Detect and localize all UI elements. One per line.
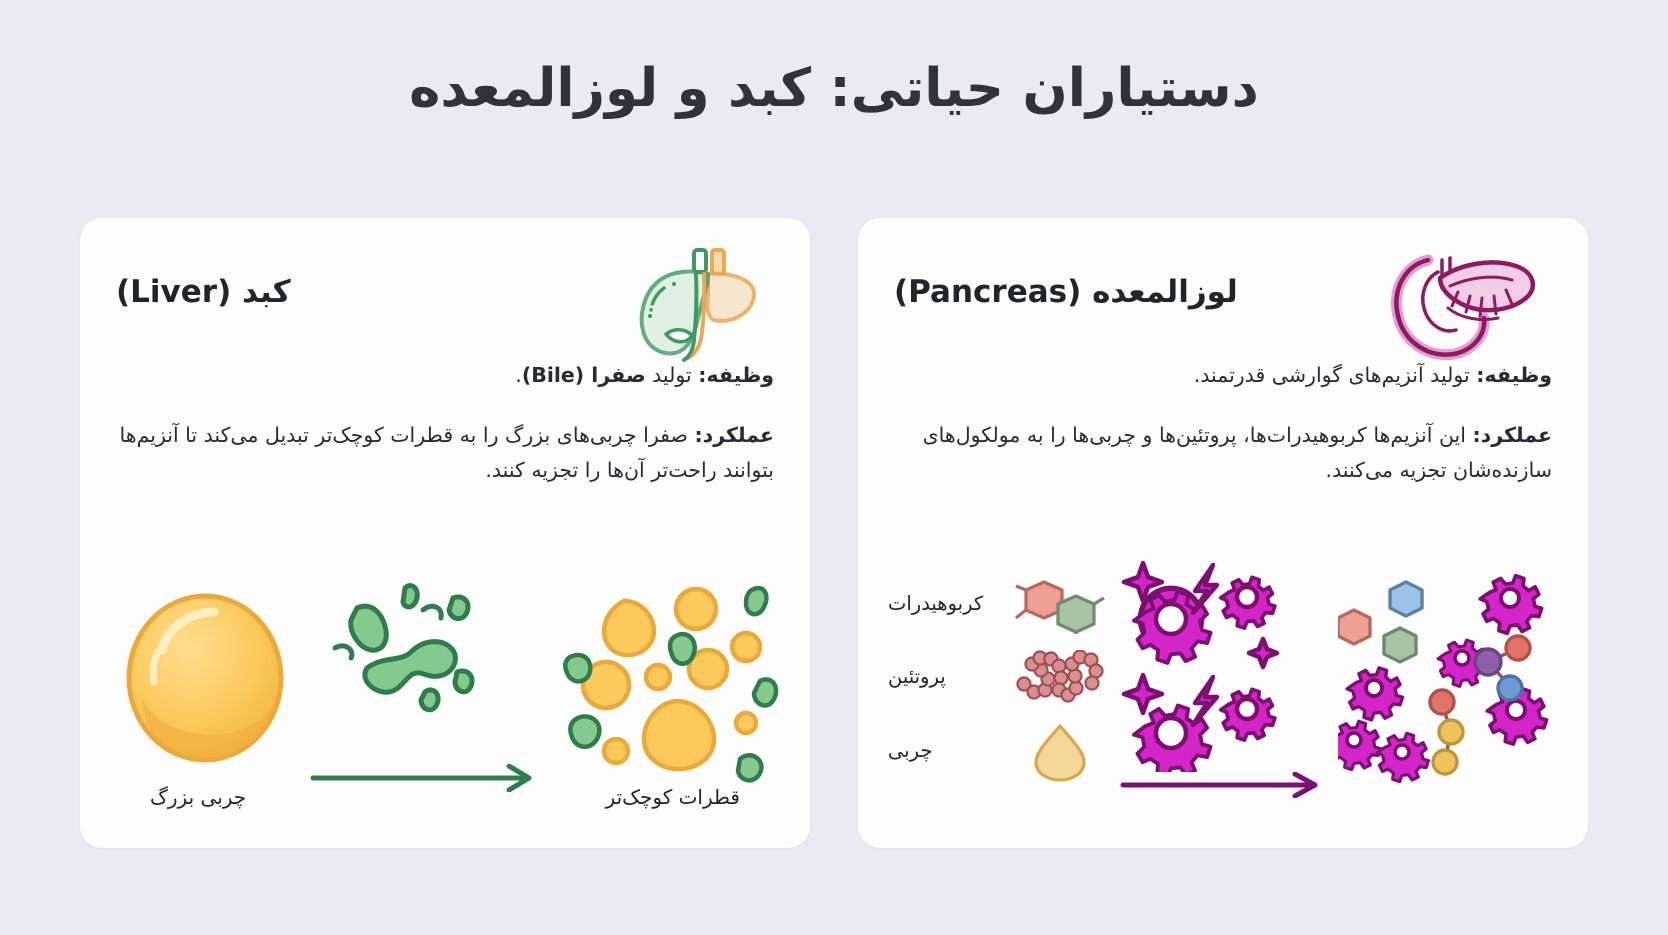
card-pancreas: لوزالمعده (Pancreas) وظیفه: تولی bbox=[858, 218, 1588, 848]
carbohydrate-hexagons-icon bbox=[1014, 574, 1106, 634]
small-droplets-icon bbox=[550, 573, 780, 783]
liver-card-header: کبد (Liver) bbox=[116, 244, 774, 364]
liver-output-cell bbox=[550, 573, 780, 783]
large-fat-droplet-icon bbox=[110, 578, 300, 778]
building-blocks-molecules-icon bbox=[1338, 570, 1558, 785]
infographic-page: دستیاران حیاتی: کبد و لوزالمعده کبد (Liv… bbox=[0, 0, 1668, 935]
arrow-right-icon bbox=[305, 764, 545, 792]
pancreas-role-paragraph: وظیفه: تولید آنزیم‌های گوارشی قدرتمند. bbox=[894, 358, 1552, 392]
liver-role-strong: صفرا (Bile) bbox=[522, 363, 646, 387]
liver-function-label: عملکرد: bbox=[694, 423, 774, 447]
arrow-right-icon bbox=[1117, 772, 1327, 798]
card-liver: کبد (Liver) bbox=[80, 218, 810, 848]
liver-function-text: صفرا چربی‌های بزرگ را به قطرات کوچک‌تر ت… bbox=[120, 423, 774, 481]
pancreas-output-cell bbox=[1338, 570, 1558, 785]
enzyme-gears-icon bbox=[1117, 557, 1327, 772]
liver-input-caption: چربی بزرگ bbox=[150, 785, 246, 809]
page-title: دستیاران حیاتی: کبد و لوزالمعده bbox=[0, 58, 1668, 119]
cards-container: کبد (Liver) bbox=[80, 218, 1588, 848]
pancreas-input-fat: چربی bbox=[888, 720, 1106, 782]
pancreas-card-header: لوزالمعده (Pancreas) bbox=[894, 244, 1552, 364]
fat-label: چربی bbox=[888, 739, 1000, 762]
protein-chain-icon bbox=[1014, 650, 1106, 704]
liver-icon bbox=[604, 244, 774, 364]
liver-role-paragraph: وظیفه: تولید صفرا (Bile). bbox=[116, 358, 774, 392]
liver-output-caption: قطرات کوچک‌تر bbox=[606, 785, 740, 809]
liver-input-cell bbox=[110, 578, 300, 778]
liver-role-text: تولید bbox=[646, 363, 699, 387]
pancreas-function-paragraph: عملکرد: این آنزیم‌ها کربوهیدرات‌ها، پروت… bbox=[894, 418, 1552, 487]
pancreas-input-list: کربوهیدرات bbox=[888, 574, 1106, 782]
pancreas-card-title: لوزالمعده (Pancreas) bbox=[894, 244, 1238, 310]
pancreas-input-protein: پروتئین bbox=[888, 650, 1106, 704]
liver-function-paragraph: عملکرد: صفرا چربی‌های بزرگ را به قطرات ک… bbox=[116, 418, 774, 487]
carbohydrate-label: کربوهیدرات bbox=[888, 592, 1000, 615]
pancreas-input-carbohydrate: کربوهیدرات bbox=[888, 574, 1106, 634]
liver-process-diagram: چربی بزرگ قطرات کوچک‌تر bbox=[110, 570, 780, 830]
pancreas-agent-cell bbox=[1117, 557, 1327, 798]
pancreas-role-label: وظیفه: bbox=[1476, 363, 1552, 387]
pancreas-role-text: تولید آنزیم‌های گوارشی قدرتمند. bbox=[1194, 363, 1476, 387]
pancreas-process-diagram: کربوهیدرات bbox=[888, 570, 1558, 830]
fat-droplet-icon bbox=[1014, 720, 1106, 782]
bile-splash-icon bbox=[305, 564, 545, 764]
pancreas-function-text: این آنزیم‌ها کربوهیدرات‌ها، پروتئین‌ها و… bbox=[923, 423, 1552, 481]
liver-agent-cell bbox=[305, 564, 545, 792]
pancreas-function-label: عملکرد: bbox=[1472, 423, 1552, 447]
pancreas-caption-spacer bbox=[928, 785, 934, 809]
liver-role-label: وظیفه: bbox=[698, 363, 774, 387]
pancreas-icon bbox=[1382, 244, 1552, 364]
liver-card-title: کبد (Liver) bbox=[116, 244, 291, 310]
protein-label: پروتئین bbox=[888, 665, 1000, 688]
pancreas-input-cell: کربوهیدرات bbox=[888, 574, 1106, 782]
